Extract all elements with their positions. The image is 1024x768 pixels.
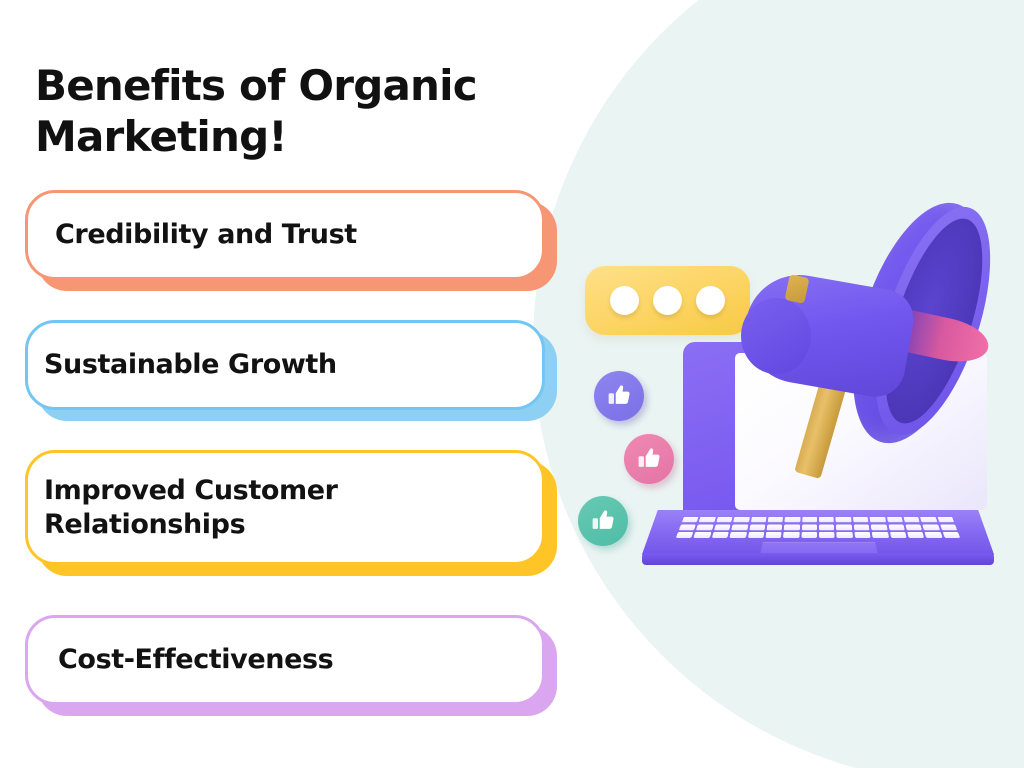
laptop-foot [642,553,994,565]
key-row [682,517,954,522]
speech-bubble-icon [585,266,750,335]
thumbs-up-icon [589,507,617,535]
key-row [676,532,960,538]
bubble-dot [610,286,639,315]
bubble-dot [696,286,725,315]
key-row [679,524,957,530]
infographic-canvas: Benefits of Organic Marketing! Credibili… [0,0,1024,768]
laptop-keyboard [676,517,960,538]
bubble-dot [653,286,682,315]
illustration-group [0,0,1024,768]
megaphone-icon [735,190,1024,510]
reaction-badge-teal [578,496,628,546]
megaphone-tip [741,298,811,374]
reaction-badge-purple [594,371,644,421]
thumbs-up-icon [605,382,633,410]
